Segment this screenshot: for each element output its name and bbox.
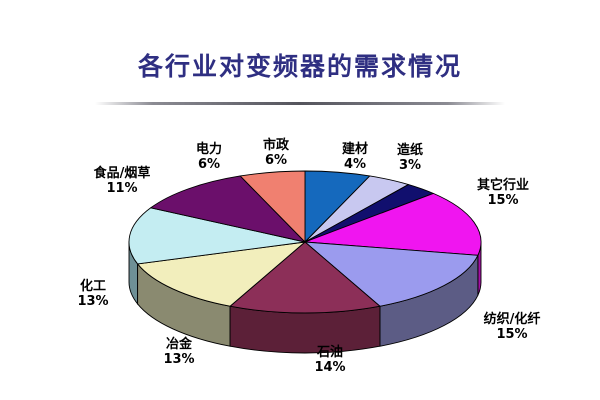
slice-label-shizheng: 市政 6%: [246, 138, 306, 168]
slice-label-shizheng-name: 市政: [246, 138, 306, 153]
slice-label-jiancai-pct: 4%: [330, 157, 380, 172]
slice-label-shipin-pct: 11%: [76, 181, 168, 196]
slice-label-shiyou-pct: 14%: [303, 360, 357, 375]
slice-label-shiyou-name: 石油: [303, 345, 357, 360]
slice-label-shipin: 食品/烟草 11%: [76, 166, 168, 196]
slice-label-yejin-name: 冶金: [152, 337, 206, 352]
slice-label-zaozhi-pct: 3%: [385, 158, 435, 173]
slice-label-qita-pct: 15%: [462, 193, 544, 208]
slice-label-dianli-pct: 6%: [182, 157, 236, 172]
slice-label-shipin-name: 食品/烟草: [76, 166, 168, 181]
slice-label-qita-name: 其它行业: [462, 178, 544, 193]
slice-label-fangzhi-pct: 15%: [466, 327, 558, 342]
slice-label-fangzhi-name: 纺织/化纤: [466, 312, 558, 327]
pie-top-slices: [129, 171, 481, 313]
slice-label-huagong: 化工 13%: [66, 279, 120, 309]
slice-label-dianli: 电力 6%: [182, 142, 236, 172]
slice-label-zaozhi: 造纸 3%: [385, 143, 435, 173]
slice-label-jiancai-name: 建材: [330, 142, 380, 157]
slice-label-dianli-name: 电力: [182, 142, 236, 157]
slide-canvas: 各行业对变频器的需求情况 市政 6% 建材 4% 造纸 3% 其它行业 15% …: [0, 0, 600, 400]
slice-label-yejin-pct: 13%: [152, 352, 206, 367]
slice-label-zaozhi-name: 造纸: [385, 143, 435, 158]
slice-label-huagong-pct: 13%: [66, 294, 120, 309]
slice-label-jiancai: 建材 4%: [330, 142, 380, 172]
slice-label-shizheng-pct: 6%: [246, 153, 306, 168]
slice-label-qita: 其它行业 15%: [462, 178, 544, 208]
slice-label-yejin: 冶金 13%: [152, 337, 206, 367]
slice-label-fangzhi: 纺织/化纤 15%: [466, 312, 558, 342]
slice-label-huagong-name: 化工: [66, 279, 120, 294]
slice-label-shiyou: 石油 14%: [303, 345, 357, 375]
